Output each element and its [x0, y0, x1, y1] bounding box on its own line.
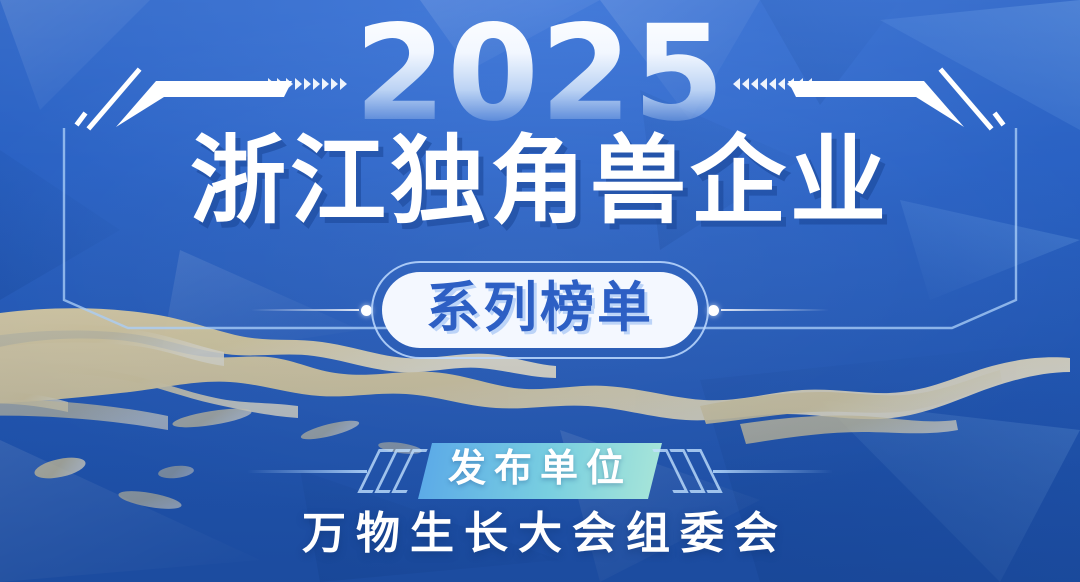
publisher-banner-row: 发布单位: [0, 443, 1080, 499]
series-badge-label: 系列榜单: [382, 272, 698, 348]
series-badge: 系列榜单: [382, 272, 698, 348]
connector-line-left: [251, 309, 359, 311]
connector-dot-right-icon: [708, 305, 719, 316]
chevrons-left-icon: [367, 449, 418, 493]
badge-connector-left: [251, 305, 372, 316]
series-badge-row: 系列榜单: [0, 272, 1080, 348]
connector-line-right: [721, 309, 829, 311]
banner-line-right: [713, 470, 833, 473]
publisher-label: 发布单位: [418, 443, 662, 499]
banner-line-left: [247, 470, 367, 473]
poster-canvas: 2025 浙江独角兽企业 系列榜单 发布单位 万物生长大会组委会: [0, 0, 1080, 582]
organizer-name: 万物生长大会组委会: [0, 512, 1080, 556]
chevrons-right-icon: [662, 449, 713, 493]
badge-connector-right: [708, 305, 829, 316]
poster-year: 2025: [0, 8, 1080, 140]
poster-title: 浙江独角兽企业: [0, 134, 1080, 230]
